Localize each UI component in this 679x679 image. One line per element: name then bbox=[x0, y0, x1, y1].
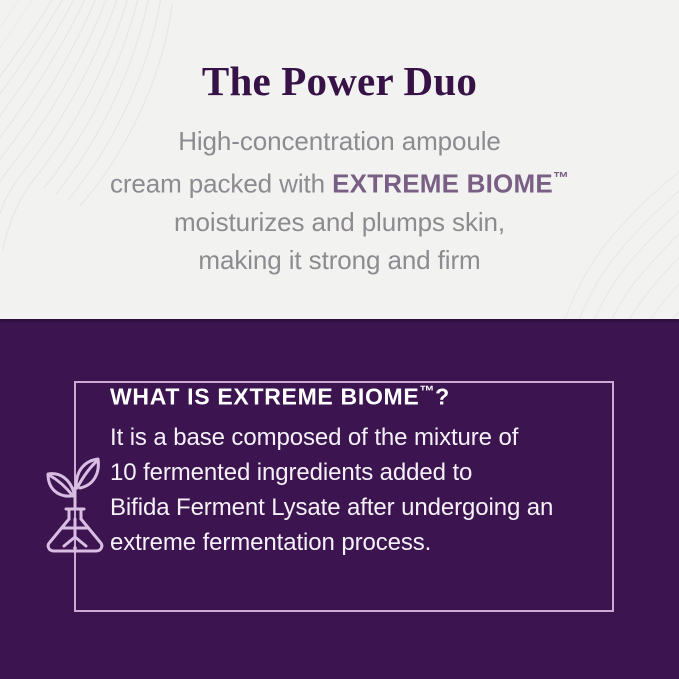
info-heading-trademark: ™ bbox=[419, 383, 435, 400]
subtitle-line-2-prefix: cream packed with bbox=[110, 169, 332, 199]
brand-name-extreme-biome: EXTREME BIOME bbox=[332, 169, 553, 199]
top-section: The Power Duo High-concentration ampoule… bbox=[0, 0, 679, 319]
info-body-line-2: 10 fermented ingredients added to bbox=[110, 455, 630, 490]
info-content: WHAT IS EXTREME BIOME™? It is a base com… bbox=[110, 384, 630, 560]
info-heading-suffix: ? bbox=[435, 384, 450, 410]
info-body-line-1: It is a base composed of the mixture of bbox=[110, 420, 630, 455]
info-heading: WHAT IS EXTREME BIOME™? bbox=[110, 384, 630, 410]
product-info-graphic: The Power Duo High-concentration ampoule… bbox=[0, 0, 679, 679]
info-body-line-3: Bifida Ferment Lysate after undergoing a… bbox=[110, 490, 630, 525]
subtitle-line-4: making it strong and firm bbox=[110, 241, 569, 279]
subtitle-line-2: cream packed with EXTREME BIOME™ bbox=[110, 160, 569, 203]
flask-droplet bbox=[73, 546, 77, 550]
page-title: The Power Duo bbox=[202, 61, 477, 102]
subtitle-line-3: moisturizes and plumps skin, bbox=[110, 203, 569, 241]
info-heading-prefix: WHAT IS EXTREME BIOME bbox=[110, 384, 419, 410]
flask-sprout-icon bbox=[36, 449, 114, 553]
info-body-line-4: extreme fermentation process. bbox=[110, 525, 630, 560]
page-subtitle: High-concentration ampoule cream packed … bbox=[110, 122, 569, 279]
subtitle-line-1: High-concentration ampoule bbox=[110, 122, 569, 160]
trademark-symbol: ™ bbox=[553, 170, 569, 187]
bottom-section: WHAT IS EXTREME BIOME™? It is a base com… bbox=[0, 319, 679, 679]
info-body: It is a base composed of the mixture of … bbox=[110, 420, 630, 560]
